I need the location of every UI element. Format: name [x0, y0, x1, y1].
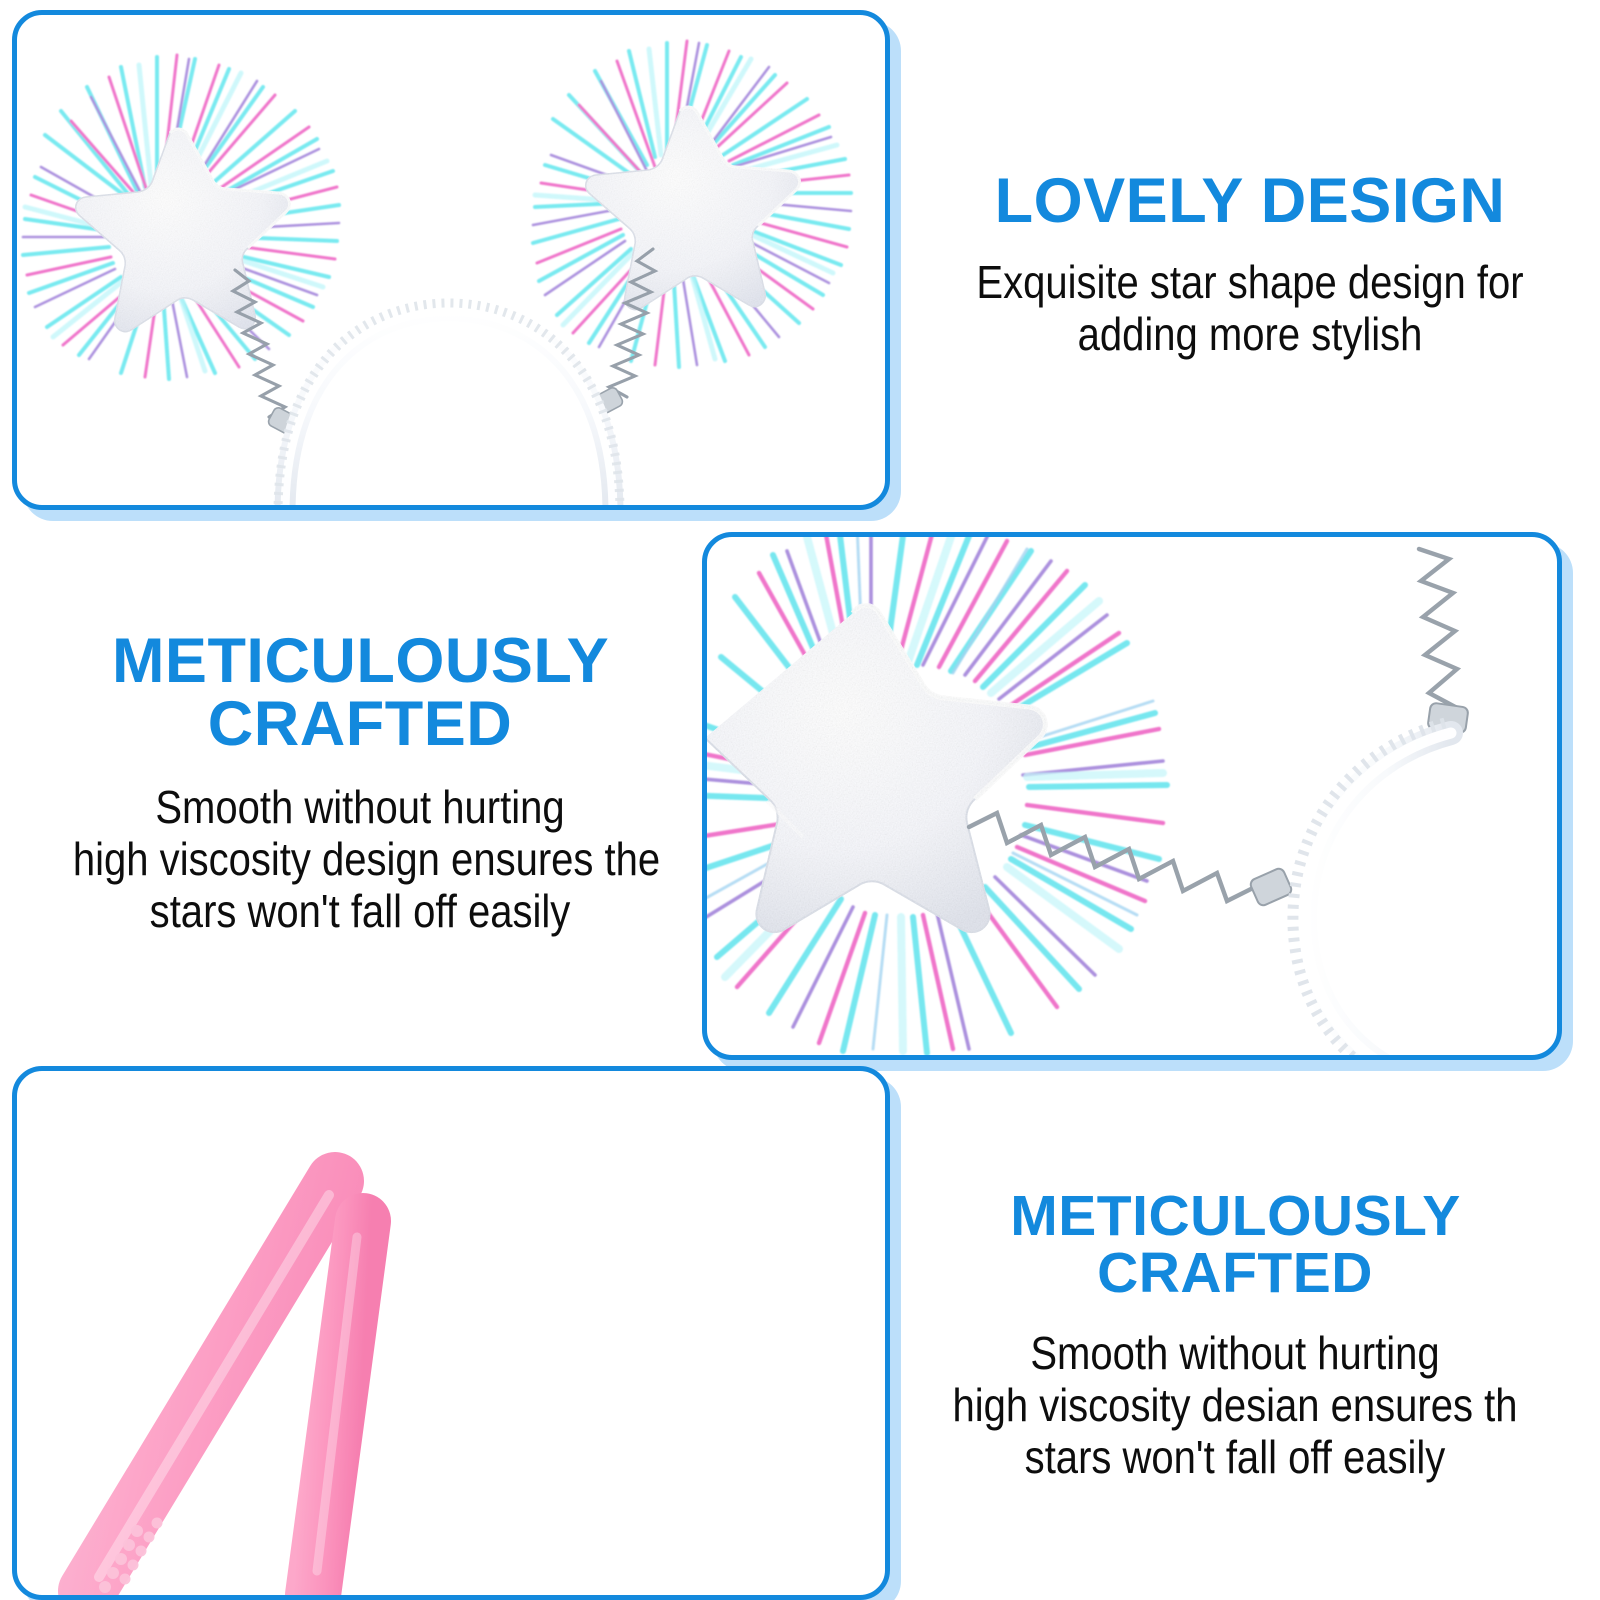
- panel-star-closeup-photo: [702, 532, 1562, 1060]
- meticulously-crafted-right-heading-line-2: CRAFTED: [1097, 1241, 1373, 1305]
- meticulously-crafted-left-body: Smooth without hurting high viscosity de…: [73, 782, 647, 938]
- meticulously-crafted-left-heading: METICULOUSLY CRAFTED: [30, 630, 690, 756]
- feature-meticulously-crafted-right: METICULOUSLY CRAFTED Smooth without hurt…: [905, 1188, 1565, 1484]
- upper-spring: [1419, 549, 1459, 709]
- star-closeup-artwork: [707, 537, 1557, 1055]
- lovely-design-body-line-2: adding more stylish: [946, 309, 1555, 361]
- infographic-page: LOVELY DESIGN Exquisite star shape desig…: [0, 0, 1600, 1600]
- panel-star-headband-photo: [12, 10, 890, 510]
- feature-meticulously-crafted-left: METICULOUSLY CRAFTED Smooth without hurt…: [30, 630, 690, 938]
- pink-headband-right-arm: [313, 1221, 363, 1595]
- meticulously-crafted-right-body-line-1: Smooth without hurting: [948, 1328, 1522, 1380]
- meticulously-crafted-right-heading: METICULOUSLY CRAFTED: [905, 1188, 1565, 1302]
- feature-lovely-design: LOVELY DESIGN Exquisite star shape desig…: [900, 170, 1600, 361]
- meticulously-crafted-right-body: Smooth without hurting high viscosity de…: [948, 1328, 1522, 1484]
- lovely-design-heading: LOVELY DESIGN: [900, 170, 1600, 233]
- star-headband-artwork: [17, 15, 885, 505]
- meticulously-crafted-left-heading-line-1: METICULOUSLY: [112, 626, 608, 696]
- lovely-design-body: Exquisite star shape design for adding m…: [946, 257, 1555, 361]
- lovely-design-body-line-1: Exquisite star shape design for: [946, 257, 1555, 309]
- left-star-bopper: [23, 55, 339, 379]
- right-star-bopper: [533, 41, 851, 367]
- meticulously-crafted-left-body-line-1: Smooth without hurting: [73, 782, 647, 834]
- white-headband: [278, 303, 620, 505]
- meticulously-crafted-left-body-line-3: stars won't fall off easily: [73, 886, 647, 938]
- white-headband-arc: [1293, 723, 1451, 1055]
- meticulously-crafted-right-body-line-3: stars won't fall off easily: [948, 1432, 1522, 1484]
- pink-headband-artwork: [17, 1071, 885, 1595]
- meticulously-crafted-left-heading-line-2: CRAFTED: [208, 689, 512, 759]
- panel-pink-headband-photo: [12, 1066, 890, 1600]
- star-spring-ferrule: [1249, 867, 1293, 907]
- meticulously-crafted-left-body-line-2: high viscosity design ensures the: [73, 834, 647, 886]
- meticulously-crafted-right-body-line-2: high viscosity desian ensures th: [948, 1380, 1522, 1432]
- meticulously-crafted-right-heading-line-1: METICULOUSLY: [1010, 1184, 1459, 1248]
